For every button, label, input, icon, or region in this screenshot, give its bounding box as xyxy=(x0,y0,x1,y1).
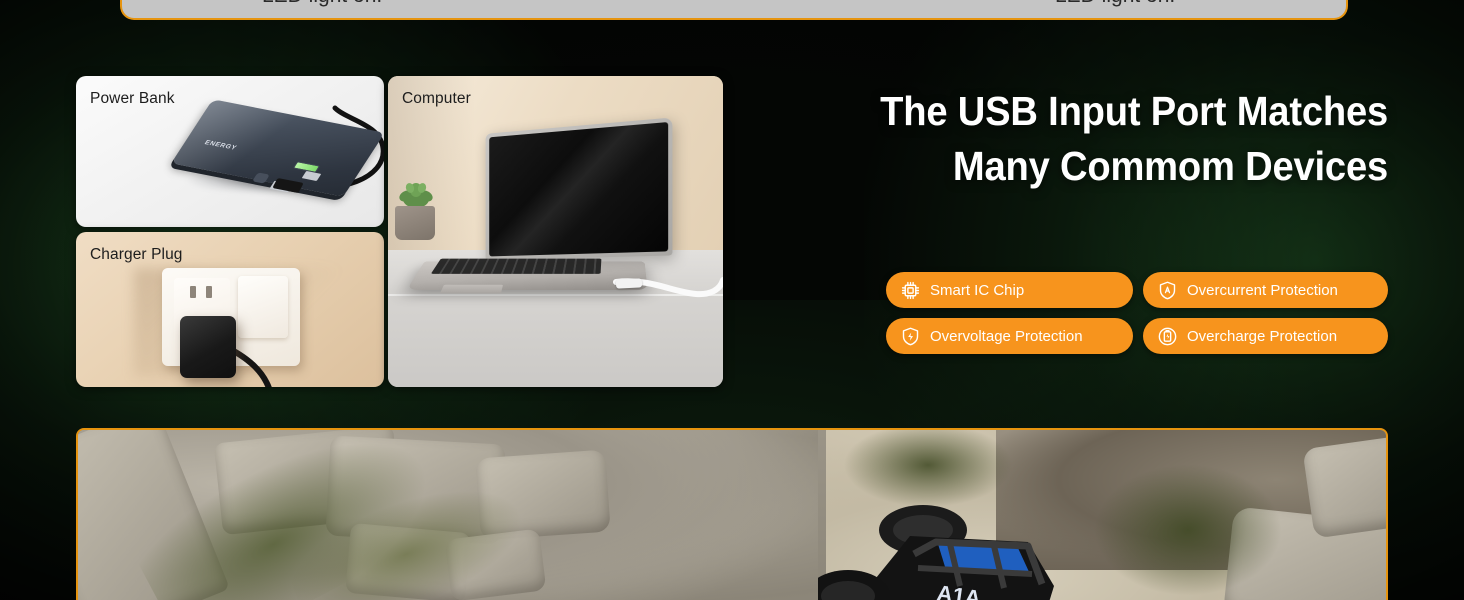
page-headline: The USB Input Port Matches Many Commom D… xyxy=(819,84,1388,193)
battery-circle-icon xyxy=(1157,326,1178,347)
card-computer[interactable]: Computer xyxy=(388,76,723,387)
feature-badge-group: Smart IC Chip Overcurrent Protection Ove… xyxy=(886,272,1388,354)
bottom-action-photo[interactable]: A1A xyxy=(76,428,1388,600)
plant-pot xyxy=(395,206,435,240)
laptop-keyboard xyxy=(431,259,602,274)
badge-label: Smart IC Chip xyxy=(930,283,1024,298)
badge-smart-ic-chip[interactable]: Smart IC Chip xyxy=(886,272,1133,308)
laptop-trackpad xyxy=(440,285,503,294)
top-banner-label-right: LED light on. xyxy=(1055,0,1175,8)
card-power-bank[interactable]: ENERGY Power Bank xyxy=(76,76,384,227)
charger-adapter-body xyxy=(180,316,236,378)
socket-hole-left xyxy=(190,286,196,298)
card-caption-computer: Computer xyxy=(402,90,471,108)
badge-label: Overvoltage Protection xyxy=(930,329,1083,344)
top-banner: LED light on. LED light on. xyxy=(120,0,1348,20)
laptop-screen xyxy=(489,122,668,256)
badge-label: Overcharge Protection xyxy=(1187,329,1337,344)
badge-overcurrent-protection[interactable]: Overcurrent Protection xyxy=(1143,272,1388,308)
laptop-lid xyxy=(486,117,673,260)
badge-overcharge-protection[interactable]: Overcharge Protection xyxy=(1143,318,1388,354)
shield-ampere-icon xyxy=(1157,280,1178,301)
wall-socket-switch xyxy=(238,276,288,338)
headline-line-2: Many Commom Devices xyxy=(819,139,1388,194)
card-caption-power-bank: Power Bank xyxy=(90,90,175,108)
card-charger-plug[interactable]: Charger Plug xyxy=(76,232,384,387)
card-caption-charger-plug: Charger Plug xyxy=(90,246,183,264)
top-banner-label-left: LED light on. xyxy=(262,0,382,8)
badge-overvoltage-protection[interactable]: Overvoltage Protection xyxy=(886,318,1133,354)
chip-icon xyxy=(900,280,921,301)
usb-c-connector xyxy=(616,278,642,288)
socket-hole-right xyxy=(206,286,212,298)
usb-c-cable-icon xyxy=(610,272,723,308)
rc-rock-crawler-icon: A1A xyxy=(818,482,1148,600)
headline-line-1: The USB Input Port Matches xyxy=(819,84,1388,139)
badge-label: Overcurrent Protection xyxy=(1187,283,1338,298)
shield-bolt-icon xyxy=(900,326,921,347)
boulder-right-2 xyxy=(1302,431,1388,538)
